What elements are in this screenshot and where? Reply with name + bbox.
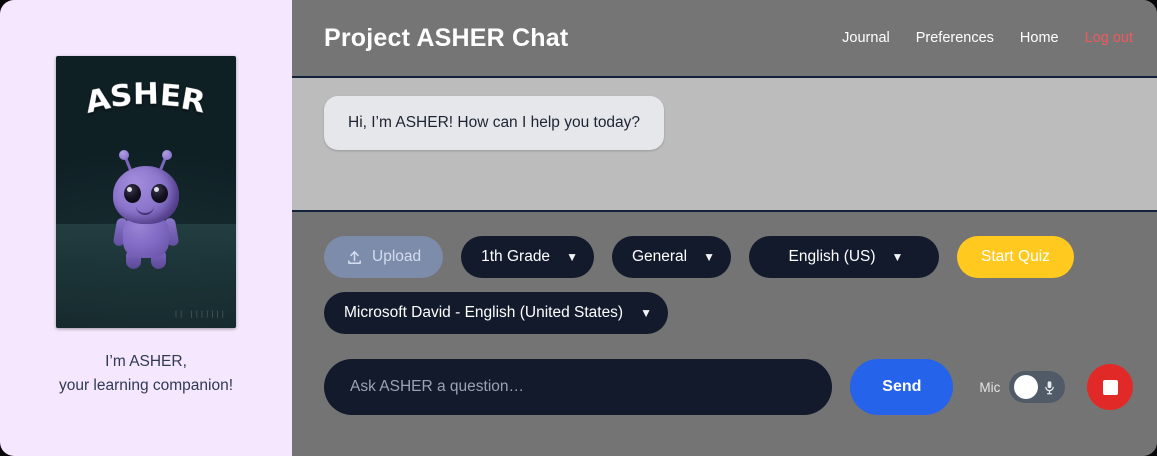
alien-eye-left bbox=[124, 184, 141, 203]
language-select[interactable]: English (US) ▼ bbox=[749, 236, 939, 278]
mascot-letter: H bbox=[133, 77, 161, 112]
send-button[interactable]: Send bbox=[850, 359, 953, 415]
controls-row-voice: Microsoft David - English (United States… bbox=[324, 292, 1133, 334]
sidebar: ASHER || ||||||| I’m ASHER, you bbox=[0, 0, 292, 456]
mascot-letter: R bbox=[179, 82, 209, 121]
start-quiz-button[interactable]: Start Quiz bbox=[957, 236, 1074, 278]
grade-select[interactable]: 1th Grade ▼ bbox=[461, 236, 594, 278]
alien-mascot-icon bbox=[100, 152, 192, 270]
chevron-down-icon: ▼ bbox=[566, 251, 578, 263]
chat-message-asher: Hi, I’m ASHER! How can I help you today? bbox=[324, 96, 664, 150]
alien-antenna-bulb-left bbox=[119, 150, 129, 160]
upload-icon bbox=[346, 249, 363, 266]
sidebar-caption-line-2: your learning companion! bbox=[59, 374, 233, 398]
controls-panel: Upload 1th Grade ▼ General ▼ English (US… bbox=[292, 212, 1157, 456]
upload-button-label: Upload bbox=[372, 248, 421, 266]
nav-link-preferences[interactable]: Preferences bbox=[916, 30, 994, 46]
nav-link-logout[interactable]: Log out bbox=[1085, 30, 1133, 46]
mascot-letter: S bbox=[108, 78, 135, 115]
subject-select[interactable]: General ▼ bbox=[612, 236, 731, 278]
nav-link-home[interactable]: Home bbox=[1020, 30, 1059, 46]
sidebar-caption-line-1: I’m ASHER, bbox=[59, 350, 233, 374]
alien-head bbox=[113, 166, 179, 224]
mic-control: Mic bbox=[979, 371, 1065, 403]
app-header: Project ASHER Chat Journal Preferences H… bbox=[292, 0, 1157, 78]
controls-row-primary: Upload 1th Grade ▼ General ▼ English (US… bbox=[324, 236, 1133, 278]
chevron-down-icon: ▼ bbox=[703, 251, 715, 263]
stop-button[interactable] bbox=[1087, 364, 1133, 410]
nav-link-journal[interactable]: Journal bbox=[842, 30, 890, 46]
sidebar-caption: I’m ASHER, your learning companion! bbox=[59, 350, 233, 398]
alien-antenna-bulb-right bbox=[162, 150, 172, 160]
mic-toggle[interactable] bbox=[1009, 371, 1065, 403]
question-input[interactable] bbox=[324, 359, 832, 415]
grade-select-value: 1th Grade bbox=[481, 248, 550, 266]
subject-select-value: General bbox=[632, 248, 687, 266]
mic-toggle-knob bbox=[1014, 375, 1038, 399]
alien-eye-right bbox=[151, 184, 168, 203]
chevron-down-icon: ▼ bbox=[640, 307, 652, 319]
microphone-icon bbox=[1042, 380, 1057, 395]
upload-button[interactable]: Upload bbox=[324, 236, 443, 278]
chevron-down-icon: ▼ bbox=[892, 251, 904, 263]
app-root: ASHER || ||||||| I’m ASHER, you bbox=[0, 0, 1157, 456]
voice-select[interactable]: Microsoft David - English (United States… bbox=[324, 292, 668, 334]
main-panel: Project ASHER Chat Journal Preferences H… bbox=[292, 0, 1157, 456]
page-title: Project ASHER Chat bbox=[324, 24, 568, 53]
language-select-value: English (US) bbox=[789, 248, 876, 266]
stop-icon bbox=[1103, 380, 1118, 395]
mascot-title-text: ASHER bbox=[56, 79, 236, 114]
chat-transcript[interactable]: Hi, I’m ASHER! How can I help you today? bbox=[292, 78, 1157, 212]
composer-row: Send Mic bbox=[324, 359, 1133, 415]
header-nav: Journal Preferences Home Log out bbox=[842, 30, 1133, 46]
voice-select-value: Microsoft David - English (United States… bbox=[344, 304, 624, 322]
mascot-image: ASHER || ||||||| bbox=[56, 56, 236, 328]
mic-label: Mic bbox=[979, 380, 1000, 395]
mascot-watermark: || ||||||| bbox=[174, 310, 226, 318]
